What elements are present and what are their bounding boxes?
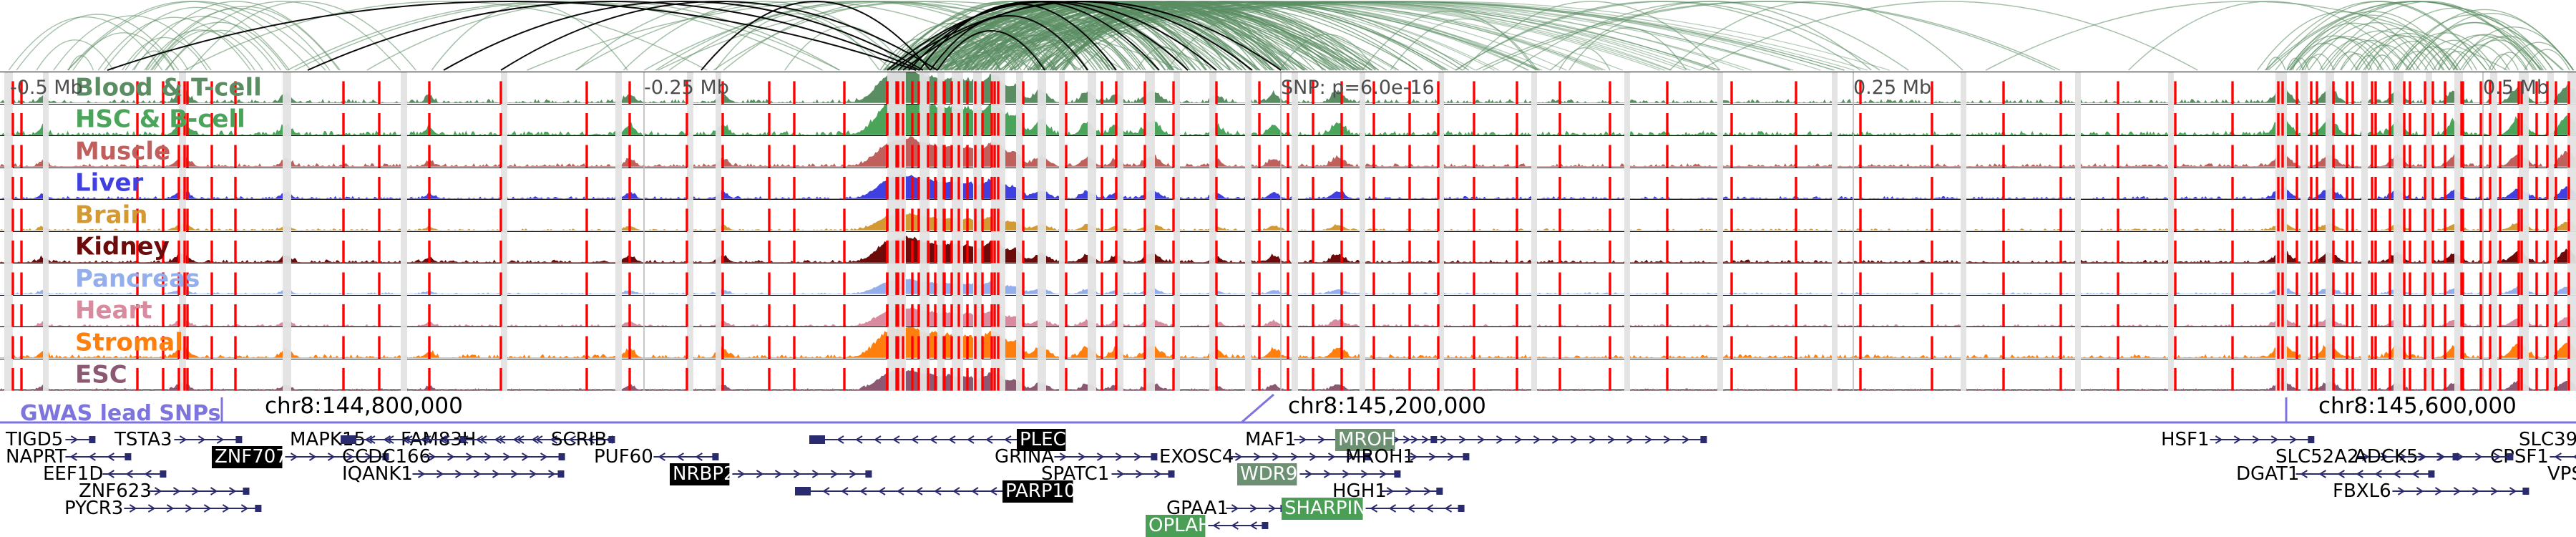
gene-exon-block <box>89 436 95 443</box>
track-label-brain: Brain <box>75 203 148 227</box>
chromatin-loop-arc <box>69 56 94 70</box>
gene-exon-block <box>341 435 356 444</box>
track-label-esc: ESC <box>75 362 127 387</box>
track-row-esc: ESC <box>0 359 2576 392</box>
gene-exon-block <box>243 488 249 495</box>
gene-label[interactable]: OPLAH <box>1148 515 1212 536</box>
gene-label[interactable]: MAF1 <box>1245 429 1297 450</box>
signal-profile <box>0 263 2576 295</box>
chromatin-loop-arc <box>185 1 707 70</box>
coordinate-label-left: chr8:144,800,000 <box>265 393 463 419</box>
gene-exon-block <box>809 435 825 444</box>
gene-exon-block <box>865 470 872 478</box>
gene-annotation-panel: TIGD5TSTA3MAPK15FAM83HSCRIBPLECMAF1MROH1… <box>0 427 2576 537</box>
axis-tick-3: 0.5 Mb <box>2483 77 2549 99</box>
gene-exon-block <box>2428 470 2434 478</box>
gene-exon-block <box>1463 453 1469 460</box>
gene-label[interactable]: PYCR3 <box>64 498 123 519</box>
gene-layer: TIGD5TSTA3MAPK15FAM83HSCRIBPLECMAF1MROH1… <box>5 429 2576 537</box>
snp-pvalue-annotation: SNP: p=6.0e-16 <box>1281 77 1435 99</box>
signal-profile <box>0 168 2576 200</box>
chromatin-loop-arc <box>295 1 839 70</box>
gene-exon-block <box>712 453 718 460</box>
gene-label[interactable]: FBXL6 <box>2333 480 2391 502</box>
track-label-kidney: Kidney <box>75 235 170 259</box>
track-row-liver: Liver <box>0 168 2576 200</box>
gene-label[interactable]: HSF1 <box>2161 429 2210 450</box>
track-row-pancreas: Pancreas <box>0 263 2576 296</box>
gene-label[interactable]: MROH1 <box>1345 446 1415 468</box>
arc-layer <box>9 1 2574 70</box>
axis-tick-2: 0.25 Mb <box>1853 77 1931 99</box>
gene-svg: TIGD5TSTA3MAPK15FAM83HSCRIBPLECMAF1MROH1… <box>0 427 2576 537</box>
gene-exon-block <box>1151 453 1157 460</box>
gwas-lead-snps-label: GWAS lead SNPs <box>20 401 220 426</box>
track-rows: Blood & T-cellHSC & B-cellMuscleLiverBra… <box>0 72 2576 391</box>
chromatin-loop-arc <box>367 1 840 70</box>
track-label-blood-t-cell: Blood & T-cell <box>75 75 262 100</box>
gene-exon-block <box>557 470 564 478</box>
gene-exon-block <box>1436 488 1443 495</box>
axis-tick-0: -0.5 Mb <box>10 77 83 99</box>
gene-exon-block <box>125 453 131 460</box>
signal-profile <box>0 296 2576 327</box>
track-label-stromal: Stromal <box>75 330 183 354</box>
gene-exon-block <box>1394 470 1400 478</box>
gene-label[interactable]: TSTA3 <box>114 429 172 450</box>
axis-tick-1: -0.25 Mb <box>644 77 729 99</box>
track-row-heart: Heart <box>0 296 2576 328</box>
track-row-muscle: Muscle <box>0 136 2576 168</box>
gene-label[interactable]: SHARPIN <box>1284 498 1367 519</box>
gene-exon-block <box>2507 453 2513 460</box>
gene-label[interactable]: PUF60 <box>594 446 653 468</box>
track-label-muscle: Muscle <box>75 139 170 163</box>
signal-profile <box>0 136 2576 168</box>
gene-exon-block <box>160 470 166 478</box>
gene-exon-block <box>235 436 242 443</box>
gene-label[interactable]: NRBP2 <box>673 463 736 485</box>
gene-exon-block <box>255 505 261 512</box>
gene-label[interactable]: ADCK5 <box>2354 446 2419 468</box>
gene-exon-block <box>608 436 615 443</box>
gene-label[interactable]: EXOSC4 <box>1159 446 1234 468</box>
track-label-liver: Liver <box>75 171 143 195</box>
gene-exon-block <box>1262 522 1268 529</box>
gene-exon-block <box>559 453 565 460</box>
gene-exon-block <box>2308 436 2314 443</box>
gene-exon-block <box>1458 505 1465 512</box>
gene-exon-block <box>1700 436 1707 443</box>
track-row-kidney: Kidney <box>0 232 2576 264</box>
coordinate-label-middle: chr8:145,200,000 <box>1288 393 1486 419</box>
track-label-hsc-b-cell: HSC & B-cell <box>75 107 245 132</box>
arc-svg <box>0 0 2576 72</box>
gene-label[interactable]: PARP10 <box>1005 480 1076 502</box>
gene-exon-block <box>2522 488 2529 495</box>
chromatin-loop-arcs-panel <box>0 0 2576 72</box>
signal-profile <box>0 105 2576 136</box>
gene-exon-block <box>795 487 811 495</box>
gene-label[interactable]: VPS28 <box>2547 463 2576 485</box>
signal-profile <box>0 359 2576 392</box>
signal-profile <box>0 232 2576 263</box>
gene-label[interactable]: IQANK1 <box>342 463 413 485</box>
gene-label[interactable]: WDR97 <box>1240 463 1309 485</box>
track-row-hsc-b-cell: HSC & B-cell <box>0 105 2576 137</box>
signal-profile <box>0 200 2576 231</box>
gene-label[interactable]: ZNF707 <box>215 446 288 468</box>
chromatin-loop-arc <box>1986 1 2507 70</box>
signal-tracks-panel: Blood & T-cellHSC & B-cellMuscleLiverBra… <box>0 72 2576 390</box>
gene-label[interactable]: DGAT1 <box>2236 463 2299 485</box>
track-label-heart: Heart <box>75 299 152 323</box>
coordinate-ruler: chr8:144,800,000 chr8:145,200,000 chr8:1… <box>0 390 2576 425</box>
gene-exon-block <box>1168 470 1174 478</box>
track-row-brain: Brain <box>0 200 2576 232</box>
chromatin-loop-arc <box>288 1 823 70</box>
track-label-pancreas: Pancreas <box>75 266 200 291</box>
track-row-stromal: Stromal <box>0 327 2576 359</box>
signal-profile <box>0 327 2576 359</box>
coordinate-label-right: chr8:145,600,000 <box>2318 393 2517 419</box>
chromatin-loop-arc <box>2268 1 2562 70</box>
